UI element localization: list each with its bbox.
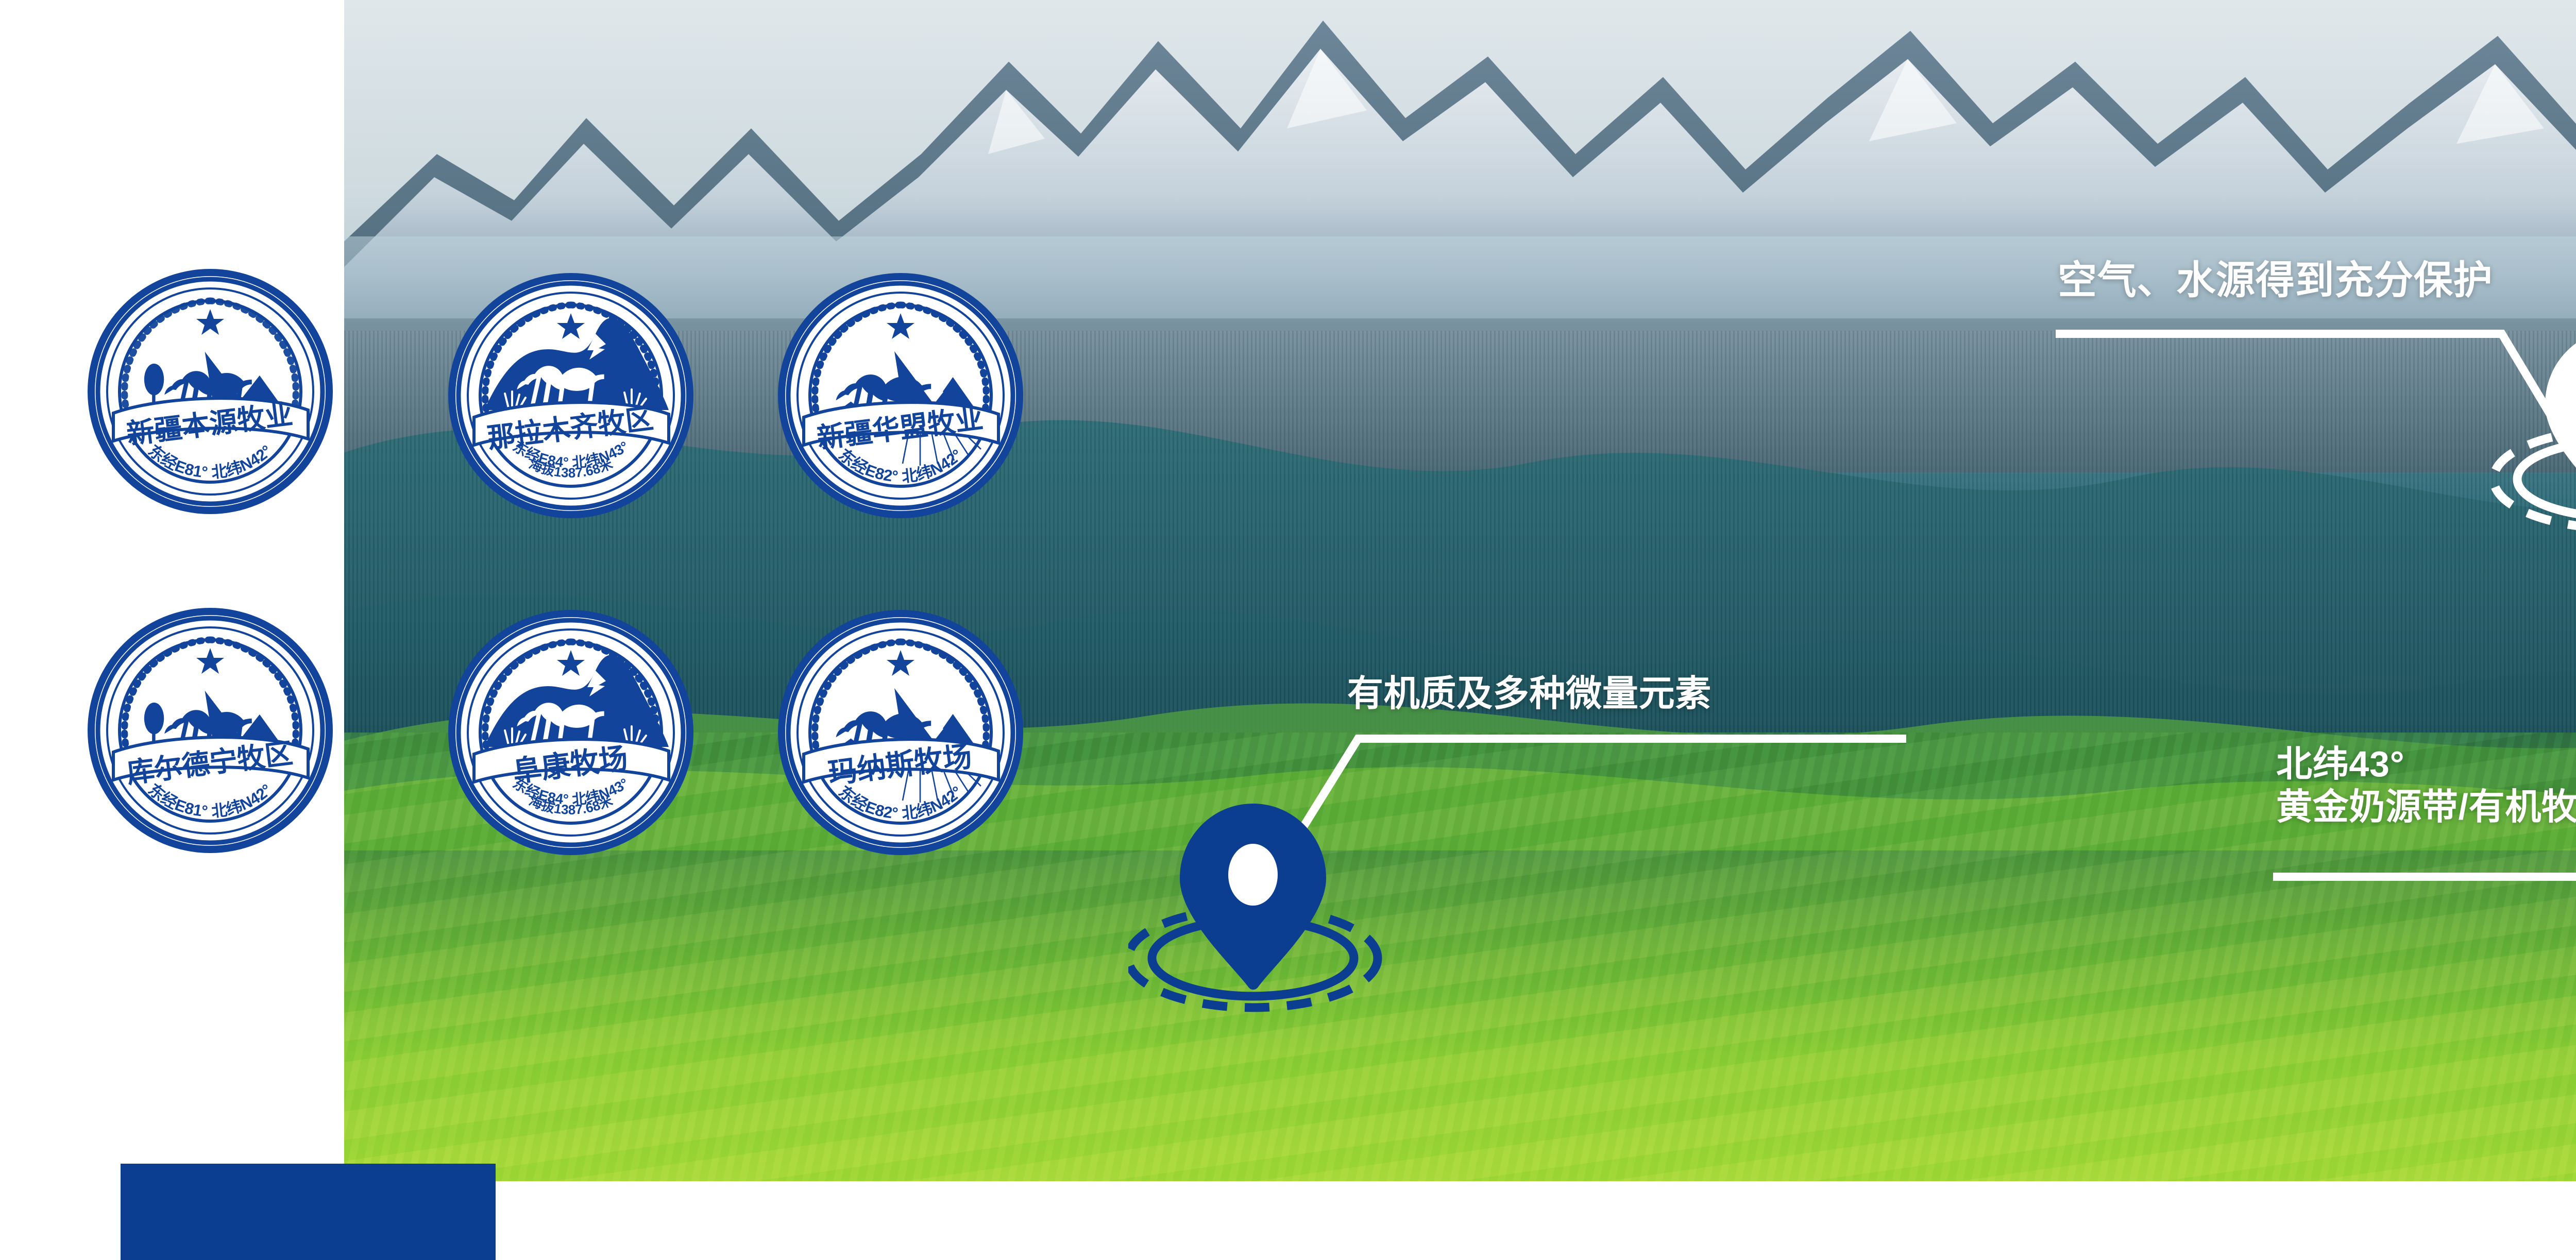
map-pin-icon	[2545, 330, 2576, 514]
callout-organic-matter: 有机质及多种微量元素	[1347, 672, 1711, 715]
badge-seal[interactable]: 新疆华盟牧业 东经E82° 北纬N42°	[777, 272, 1024, 519]
callout-line-2: 黄金奶源带/有机牧场	[2276, 786, 2576, 828]
badge-seal[interactable]: 那拉木齐牧区 海拔1387.68米 东经E84° 北纬N43°	[447, 272, 694, 519]
callout-line-1: 空气、水源得到充分保护	[2058, 258, 2493, 304]
callout-golden-milk-belt: 北纬43° 黄金奶源带/有机牧场	[2276, 743, 2576, 828]
badge-seal[interactable]: 阜康牧场 海拔1387.68米 东经E84° 北纬N43°	[447, 609, 694, 856]
callout-line-1: 有机质及多种微量元素	[1347, 672, 1711, 715]
badge-seal[interactable]: 库尔德宁牧区 东经E81° 北纬N42°	[87, 607, 334, 854]
left-white-panel	[0, 0, 344, 1181]
callout-air-water: 空气、水源得到充分保护	[2058, 258, 2493, 304]
map-pin-marker[interactable]	[1128, 788, 1396, 1025]
map-pin-marker[interactable]	[2483, 309, 2576, 546]
badge-seal[interactable]: 新疆本源牧业 东经E81° 北纬N42°	[87, 268, 334, 515]
badge-seal[interactable]: 玛纳斯牧场 东经E82° 北纬N42°	[777, 609, 1024, 856]
landscape-photo	[344, 0, 2576, 1181]
poster-canvas: 新疆本源牧业 东经E81° 北纬N42°	[0, 0, 2576, 1260]
callout-line-1: 北纬43°	[2276, 743, 2576, 786]
bottom-left-blue-block	[121, 1164, 496, 1260]
